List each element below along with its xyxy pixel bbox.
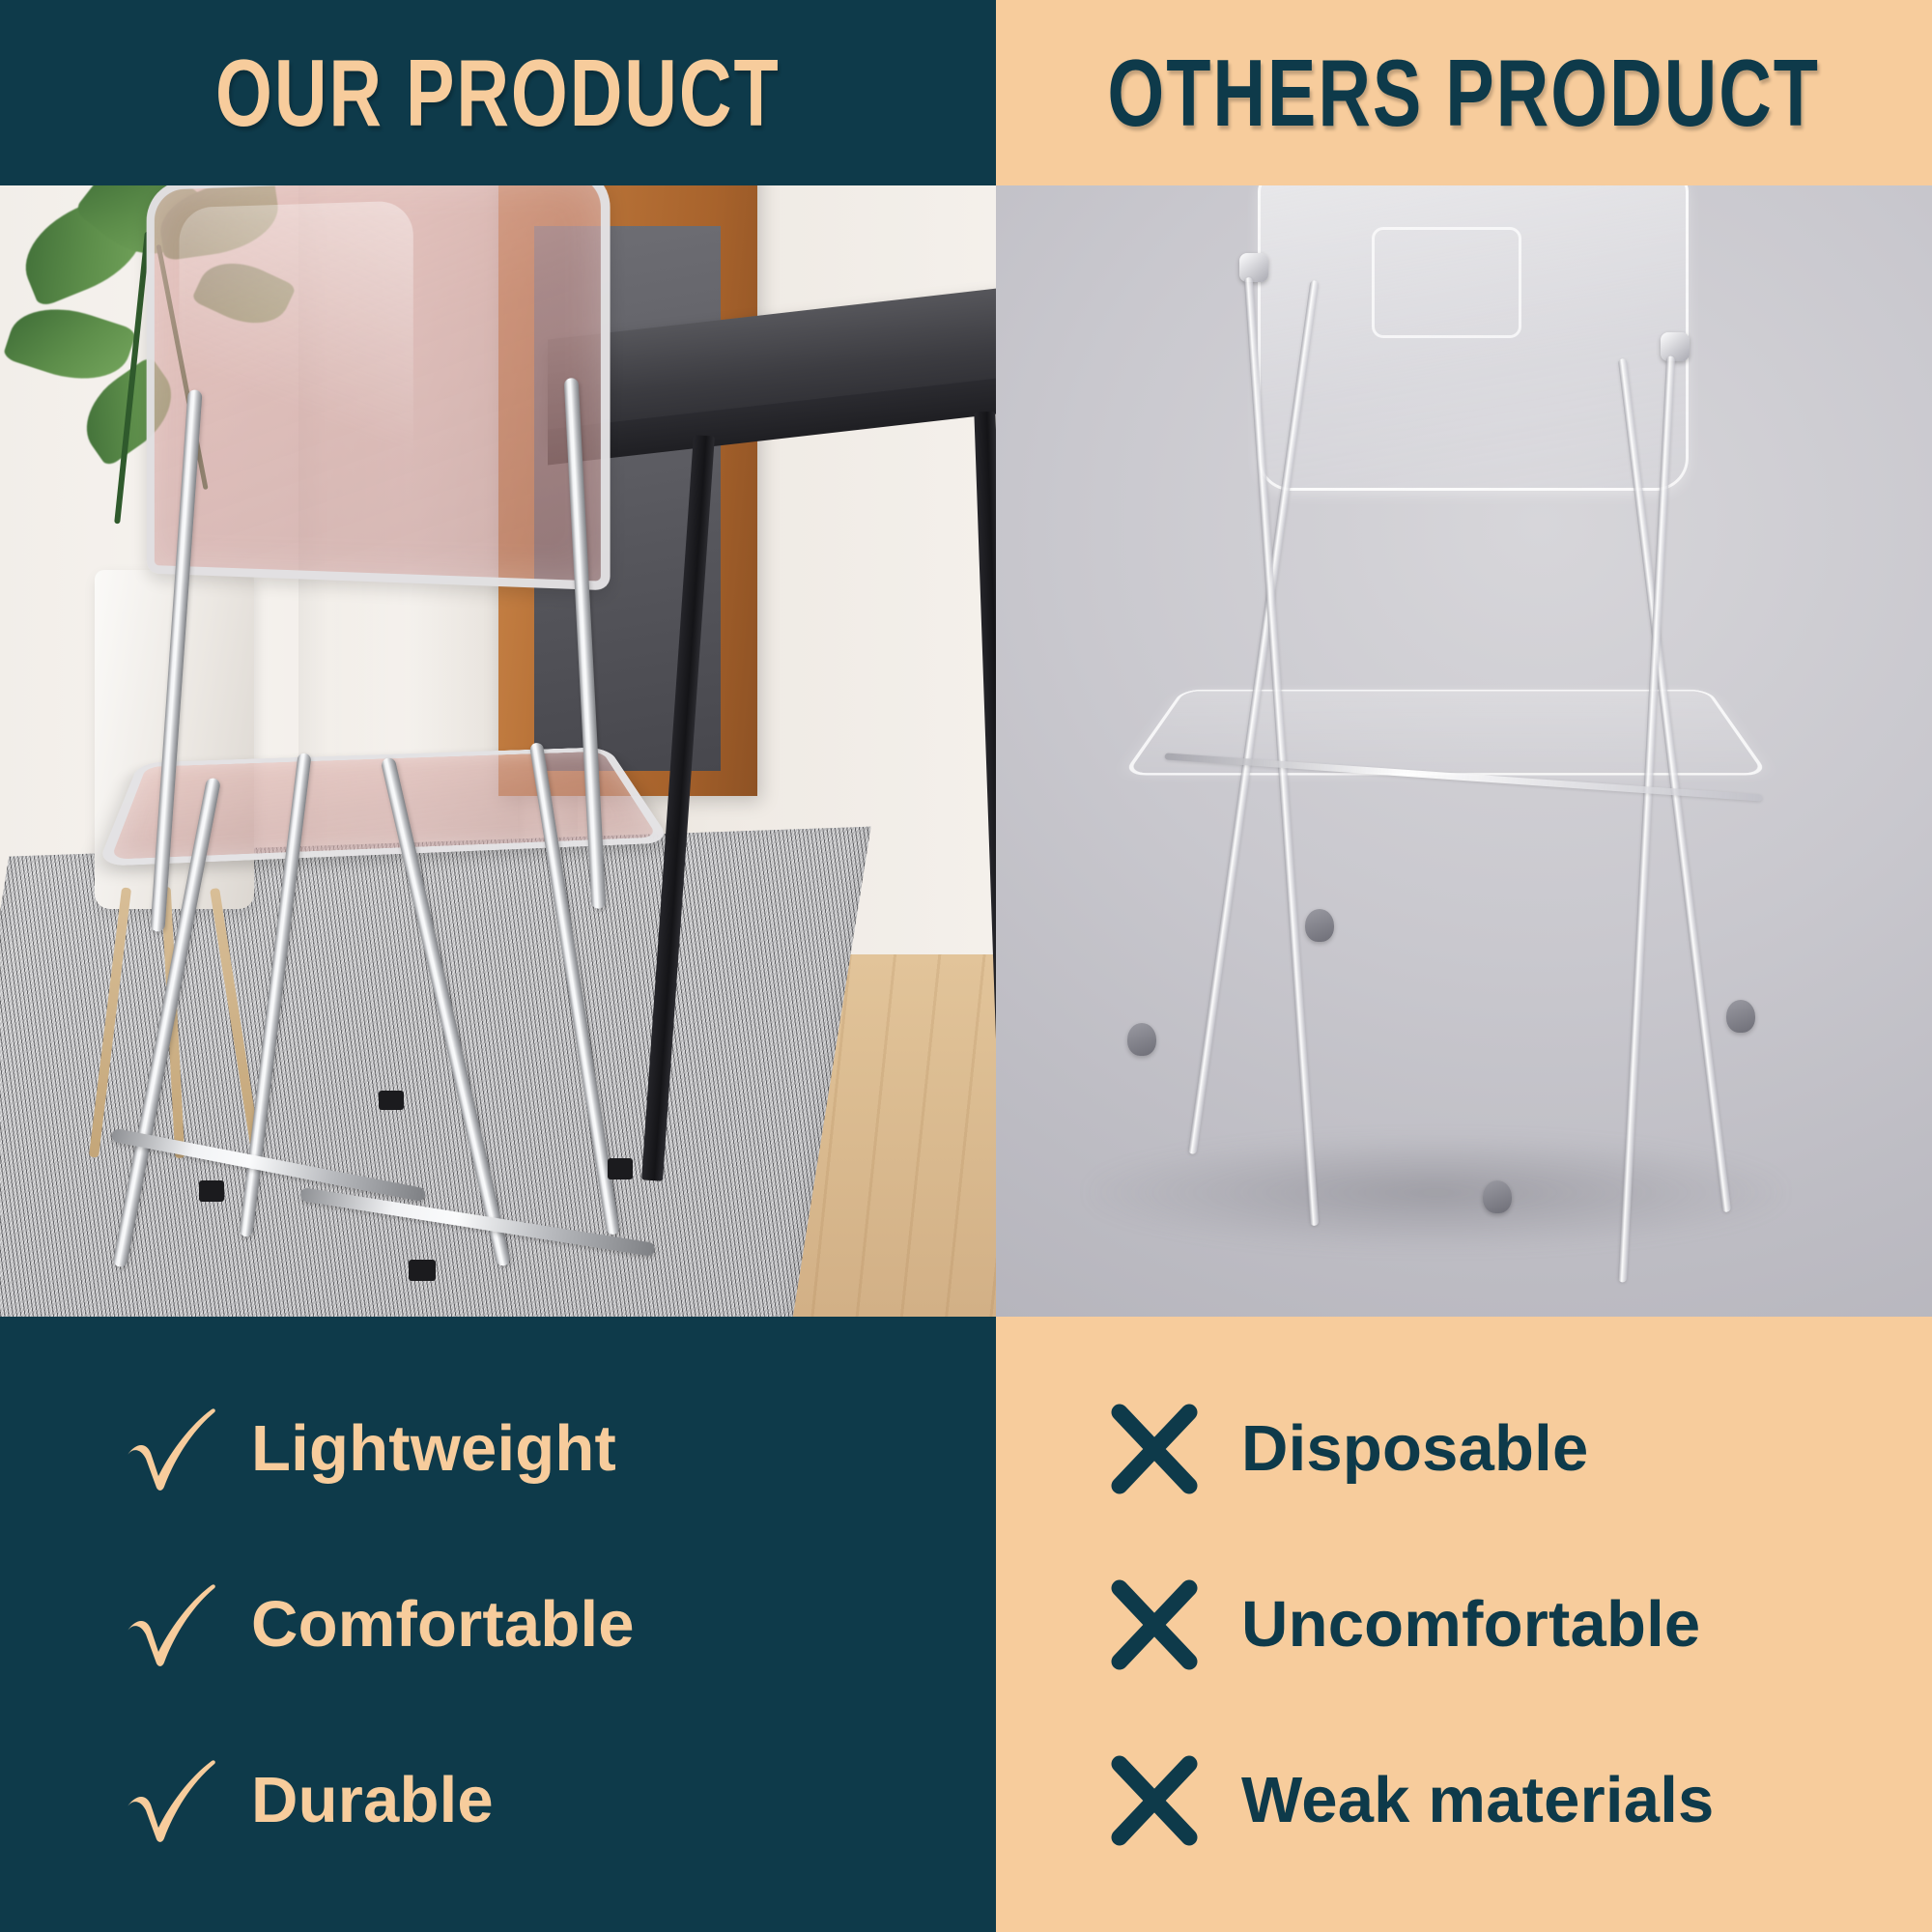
- comparison-board: OUR PRODUCT OTHERS PRODUCT: [0, 0, 1932, 1932]
- cross-icon: [1104, 1399, 1241, 1499]
- feature-label: Disposable: [1241, 1416, 1588, 1481]
- check-icon: [114, 1567, 251, 1683]
- our-product-feature-list: Lightweight Comfortable Durable: [0, 1317, 996, 1932]
- other-chair-foot: [1483, 1180, 1512, 1213]
- chair-backrest: [147, 185, 610, 590]
- header-our-product: OUR PRODUCT: [0, 0, 996, 185]
- other-chair-hinge: [1661, 332, 1690, 361]
- feature-label: Comfortable: [251, 1592, 635, 1657]
- plant-stand: [99, 887, 249, 1158]
- feature-label: Uncomfortable: [1241, 1592, 1700, 1657]
- check-icon: [114, 1391, 251, 1507]
- others-product-title: OTHERS PRODUCT: [1108, 45, 1821, 140]
- our-product-photo: [0, 185, 996, 1317]
- other-chair-foot: [1305, 909, 1334, 942]
- check-icon: [114, 1743, 251, 1859]
- chair-foot-cap: [199, 1180, 224, 1202]
- other-chair-backrest: [1258, 185, 1689, 491]
- chair-foot-cap: [409, 1260, 436, 1281]
- cross-icon: [1104, 1575, 1241, 1675]
- header-others-product: OTHERS PRODUCT: [996, 0, 1932, 185]
- chair-foot-cap: [379, 1091, 404, 1110]
- other-chair-hinge: [1239, 253, 1268, 282]
- chair-foot-cap: [608, 1158, 633, 1179]
- our-product-title: OUR PRODUCT: [215, 45, 781, 140]
- other-chair-foot: [1127, 1023, 1156, 1056]
- feature-row: Durable: [114, 1713, 996, 1889]
- feature-label: Durable: [251, 1768, 494, 1833]
- feature-row: Disposable: [1104, 1361, 1932, 1537]
- other-chair-foot: [1726, 1000, 1755, 1033]
- others-product-photo: [996, 185, 1932, 1317]
- feature-row: Weak materials: [1104, 1713, 1932, 1889]
- feature-label: Weak materials: [1241, 1768, 1714, 1833]
- feature-row: Lightweight: [114, 1361, 996, 1537]
- cross-icon: [1104, 1750, 1241, 1851]
- feature-label: Lightweight: [251, 1416, 616, 1481]
- feature-row: Comfortable: [114, 1537, 996, 1713]
- others-product-feature-list: Disposable Uncomfortable: [996, 1317, 1932, 1932]
- feature-row: Uncomfortable: [1104, 1537, 1932, 1713]
